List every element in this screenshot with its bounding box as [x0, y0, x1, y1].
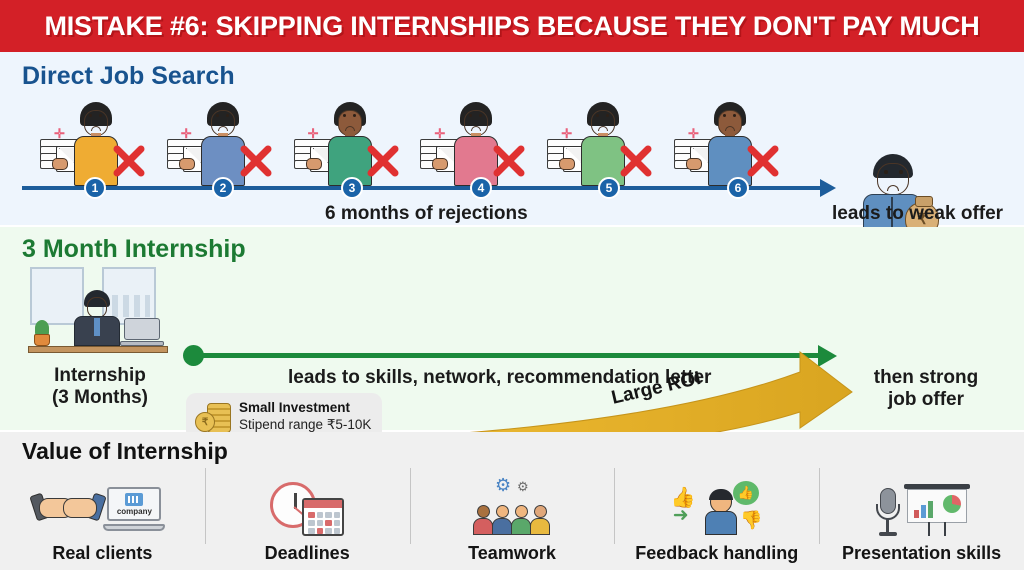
value-item-label: Deadlines	[265, 543, 350, 564]
thumbs-feedback-icon: 👍 ➜ 👍 👎	[614, 477, 819, 541]
microphone-chart-icon	[819, 477, 1024, 541]
section-heading-direct: Direct Job Search	[22, 62, 235, 91]
rejection-x-icon	[366, 144, 400, 178]
calendar-icon	[302, 498, 344, 536]
internship-caption-line1: Internship	[30, 365, 170, 387]
plant-icon	[32, 320, 52, 346]
internship-start-caption: Internship (3 Months)	[30, 365, 170, 409]
thumbs-up-bubble-icon: 👍	[733, 481, 759, 505]
rejection-figure: ✛	[420, 98, 526, 186]
timeline-node-4: 4	[470, 177, 492, 199]
direct-timeline-arrow	[820, 179, 836, 197]
thumbs-down-icon: 👎	[740, 510, 762, 531]
timeline-node-6: 6	[727, 177, 749, 199]
section-heading-value: Value of Internship	[22, 438, 228, 465]
clock-calendar-icon	[205, 477, 410, 541]
value-item-label: Feedback handling	[635, 543, 798, 564]
rejection-figures-row: ✛ ✛	[40, 98, 780, 186]
rejection-figure: ✛	[547, 98, 653, 186]
value-item-label: Real clients	[52, 543, 152, 564]
value-item-real-clients: company Real clients	[0, 462, 205, 570]
timeline-node-1: 1	[84, 177, 106, 199]
rejection-figure: ✛	[294, 98, 400, 186]
presentation-board-icon	[904, 484, 970, 536]
laptop-icon	[120, 318, 164, 346]
timeline-node-5: 5	[598, 177, 620, 199]
value-item-feedback-handling: 👍 ➜ 👍 👎 Feedback handling	[614, 462, 819, 570]
infographic-page: MISTAKE #6: SKIPPING INTERNSHIPS BECAUSE…	[0, 0, 1024, 572]
rejection-x-icon	[746, 144, 780, 178]
rejection-figure: ✛	[40, 98, 146, 186]
laptop-screen-text: company	[117, 507, 152, 516]
strong-offer-caption: then strong job offer	[866, 367, 986, 411]
gear-icon: ⚙	[495, 475, 511, 496]
internship-timeline-arrow	[818, 345, 837, 367]
strong-offer-line2: job offer	[866, 389, 986, 411]
section-heading-internship: 3 Month Internship	[22, 235, 246, 264]
timeline-node-3: 3	[341, 177, 363, 199]
rejections-caption: 6 months of rejections	[325, 203, 528, 225]
handshake-laptop-icon: company	[0, 477, 205, 541]
value-item-deadlines: Deadlines	[205, 462, 410, 570]
banner: MISTAKE #6: SKIPPING INTERNSHIPS BECAUSE…	[0, 0, 1024, 52]
person-icon	[705, 491, 737, 535]
arrow-right-icon: ➜	[673, 504, 689, 527]
rejection-x-icon	[619, 144, 653, 178]
investment-badge-title: Small Investment	[239, 400, 371, 417]
internship-caption-line2: (3 Months)	[30, 387, 170, 409]
microphone-icon	[876, 488, 900, 536]
internship-timeline-line	[196, 353, 821, 358]
strong-offer-line1: then strong	[866, 367, 986, 389]
value-item-teamwork: ⚙ ⚙ Teamwork	[410, 462, 615, 570]
direct-timeline-line	[22, 186, 827, 190]
coins-icon: ₹	[195, 401, 231, 433]
value-item-label: Presentation skills	[842, 543, 1001, 564]
rejection-x-icon	[112, 144, 146, 178]
value-item-label: Teamwork	[468, 543, 556, 564]
section-direct-job-search: Direct Job Search ✛	[0, 52, 1024, 227]
handshake-icon	[39, 490, 97, 528]
company-laptop-icon: company	[103, 487, 165, 531]
rejection-figure: ✛	[167, 98, 273, 186]
banner-title: MISTAKE #6: SKIPPING INTERNSHIPS BECAUSE…	[44, 11, 979, 42]
rejection-x-icon	[492, 144, 526, 178]
timeline-node-2: 2	[212, 177, 234, 199]
section-value-of-internship: Value of Internship company	[0, 432, 1024, 570]
value-item-presentation-skills: Presentation skills	[819, 462, 1024, 570]
team-gears-icon: ⚙ ⚙	[410, 477, 615, 541]
rejection-x-icon	[239, 144, 273, 178]
weak-offer-caption: leads to weak offer	[832, 203, 1003, 225]
intern-person	[72, 290, 120, 346]
internship-desk-scene	[28, 267, 168, 359]
rejection-figure: ✛	[674, 98, 780, 186]
gear-icon: ⚙	[517, 479, 529, 495]
value-items-grid: company Real clients	[0, 462, 1024, 570]
